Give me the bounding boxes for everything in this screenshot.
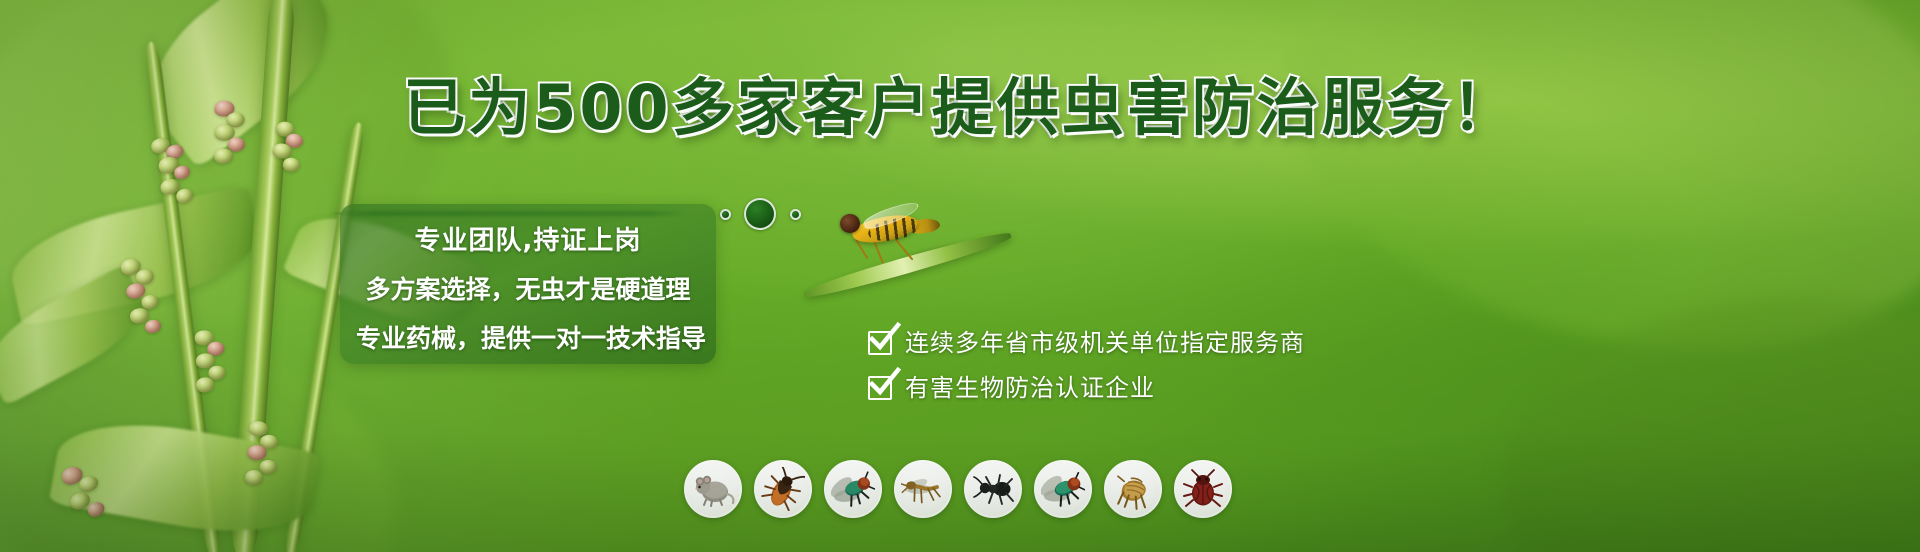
pest-icon-cockroach[interactable]	[754, 460, 812, 518]
slogan-line-2: 多方案选择，无虫才是硬道理	[356, 265, 700, 314]
pest-icon-row	[684, 460, 1232, 518]
insect-leg	[873, 241, 884, 264]
banner-headline-text: 已为500多家客户提供虫害防治服务！	[403, 71, 1516, 144]
feature-label: 连续多年省市级机关单位指定服务商	[905, 330, 1305, 356]
feature-item: 连续多年省市级机关单位指定服务商	[868, 330, 1388, 356]
feature-list: 连续多年省市级机关单位指定服务商 有害生物防治认证企业	[868, 330, 1388, 420]
promo-banner: 已为500多家客户提供虫害防治服务！ 专业团队,持证上岗 多方案选择，无虫才是硬…	[0, 0, 1920, 552]
pest-icon-fly[interactable]	[824, 460, 882, 518]
pest-icon-mouse[interactable]	[684, 460, 742, 518]
banner-headline: 已为500多家客户提供虫害防治服务！	[0, 76, 1920, 140]
dot-small-icon	[790, 209, 801, 220]
feature-item: 有害生物防治认证企业	[868, 375, 1388, 401]
feature-label: 有害生物防治认证企业	[905, 375, 1155, 401]
slogan-panel: 专业团队,持证上岗 多方案选择，无虫才是硬道理 专业药械，提供一对一技术指导	[340, 204, 716, 364]
dot-small-icon	[720, 209, 731, 220]
decorative-dots	[718, 196, 838, 232]
grass-blade	[802, 228, 1013, 303]
dot-large-icon	[744, 198, 776, 230]
pest-icon-fly-green[interactable]	[1034, 460, 1092, 518]
checkbox-checked-icon	[868, 376, 892, 400]
pest-icon-flea[interactable]	[1104, 460, 1162, 518]
slogan-line-3: 专业药械，提供一对一技术指导	[356, 314, 700, 363]
checkbox-checked-icon	[868, 331, 892, 355]
pest-icon-ant[interactable]	[964, 460, 1022, 518]
insect-head	[840, 214, 860, 233]
pest-icon-bedbug[interactable]	[1174, 460, 1232, 518]
pest-icon-mosquito[interactable]	[894, 460, 952, 518]
slogan-line-1: 专业团队,持证上岗	[356, 217, 700, 265]
